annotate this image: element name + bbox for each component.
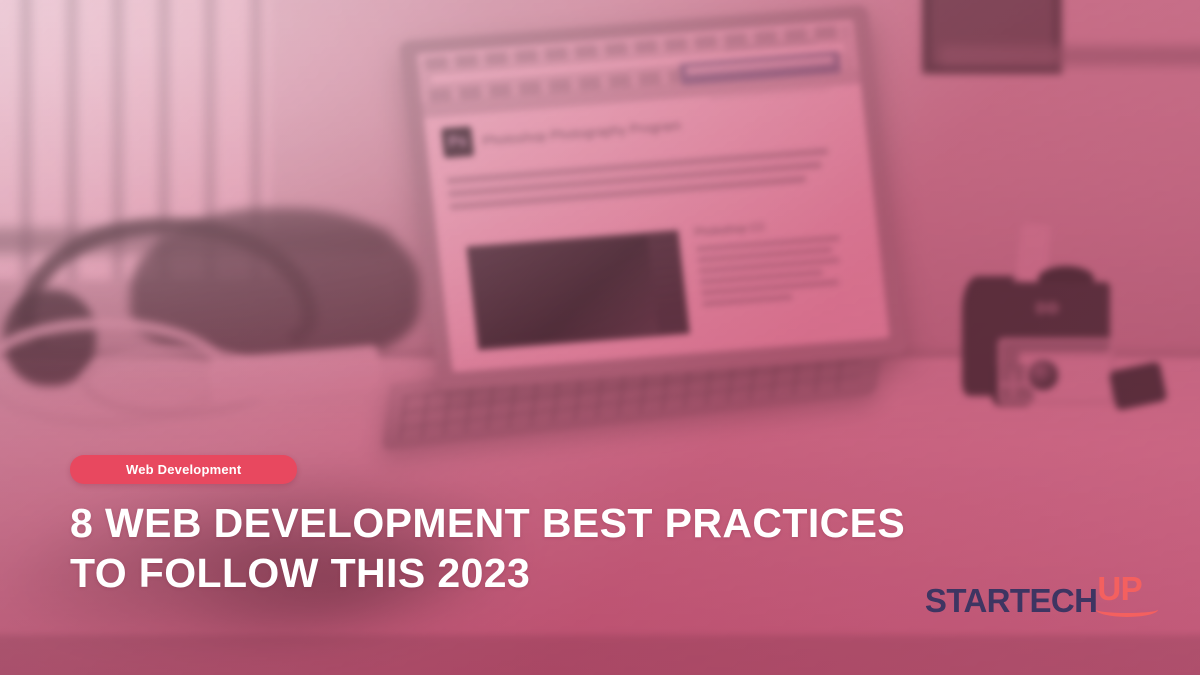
logo-smile-icon [1096, 602, 1158, 617]
logo-accent-text: UP [1097, 572, 1142, 617]
banner-headline: 8 Web Development Best Practices to Foll… [70, 498, 1010, 598]
logo-primary-text: STARTECH [925, 584, 1097, 617]
blog-hero-banner: Ps Photoshop Photography Program Pho [0, 0, 1200, 675]
headline-line-1: 8 Web Development Best Practices [70, 500, 905, 546]
headline-line-2: to Follow This 2023 [70, 550, 530, 596]
startechup-logo[interactable]: STARTECH UP [925, 572, 1142, 617]
category-badge[interactable]: Web Development [70, 455, 297, 484]
